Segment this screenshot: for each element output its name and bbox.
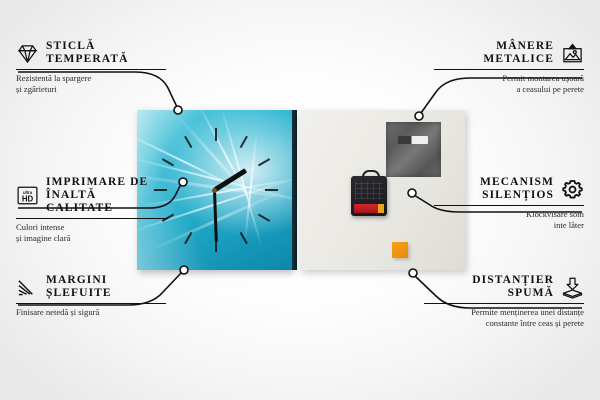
feature-subtitle: Permit montarea ușoară a ceasului pe per… (434, 73, 584, 95)
feature-title-line-2: ȘLEFUITE (46, 287, 112, 299)
feature-header: DISTANȚIER SPUMĂ (424, 274, 584, 300)
feature-subtitle-line-2: și imagine clară (16, 233, 70, 243)
feature-title-line-1: MECANISM (480, 176, 554, 188)
diagonal-stripes-icon (16, 276, 39, 299)
feature-header: MÂNERE METALICE (434, 40, 584, 66)
feature-header: MECANISM SILENȚIOS (434, 176, 584, 202)
feature-title-line-1: IMPRIMARE DE (46, 176, 148, 188)
metal-hanger-plate (386, 122, 441, 177)
feature-title-line-1: DISTANȚIER (472, 274, 554, 286)
clock-movement (351, 176, 387, 216)
feature-title-line-1: STICLĂ (46, 40, 95, 52)
feature-subtitle-line-1: Permite menținerea unei distanțe (471, 307, 584, 317)
feature-header: ultra HD IMPRIMARE DE ÎNALTĂ CALITATE (16, 176, 166, 215)
feature-subtitle-line-2: constante între ceas și perete (486, 318, 584, 328)
battery-cap (378, 204, 384, 213)
feature-title-line-2: SILENȚIOS (482, 189, 554, 201)
feature-subtitle-line-1: Klockvisare som (526, 209, 584, 219)
glass-edge (292, 110, 297, 270)
feature-rule (434, 69, 584, 70)
feature-title-line-2: SPUMĂ (508, 287, 554, 299)
feature-subtitle: Finisare netedă și sigură (16, 307, 166, 318)
feature-subtitle-line-1: Permit montarea ușoară (502, 73, 584, 83)
feature-subtitle-line-1: Rezistentă la spargere (16, 73, 91, 83)
movement-hanging-loop (362, 170, 380, 181)
hanger-slot (398, 136, 428, 144)
arrow-onto-pad-icon (561, 276, 584, 299)
feature-high-quality-print[interactable]: ultra HD IMPRIMARE DE ÎNALTĂ CALITATE Cu… (16, 176, 166, 244)
feature-header: STICLĂ TEMPERATĂ (16, 40, 166, 66)
feature-subtitle: Permite menținerea unei distanțe constan… (424, 307, 584, 329)
feature-rule (16, 303, 166, 304)
feature-rule (424, 303, 584, 304)
feature-title-line-2: METALICE (483, 53, 554, 65)
feature-rule (16, 69, 166, 70)
framed-picture-icon (561, 42, 584, 65)
feature-rule (16, 218, 168, 219)
feature-subtitle-line-2: și zgârieturi (16, 84, 57, 94)
feature-silent-mechanism[interactable]: MECANISM SILENȚIOS Klockvisare som inte … (434, 176, 584, 231)
feature-subtitle-line-1: Finisare netedă și sigură (16, 307, 99, 317)
clock-minute-hand (213, 190, 218, 242)
movement-texture (355, 181, 383, 199)
battery (354, 204, 384, 213)
feature-subtitle-line-2: a ceasului pe perete (516, 84, 584, 94)
feature-subtitle: Rezistentă la spargere și zgârieturi (16, 73, 166, 95)
ultra-hd-icon: ultra HD (16, 184, 39, 207)
feature-title-line-2: TEMPERATĂ (46, 53, 129, 65)
infographic-canvas: STICLĂ TEMPERATĂ Rezistentă la spargere … (0, 0, 600, 400)
diamond-icon (16, 42, 39, 65)
feature-subtitle: Culori intense și imagine clară (16, 222, 166, 244)
feature-title-line-1: MÂNERE (496, 40, 554, 52)
clock-center-cap (212, 188, 217, 193)
feature-subtitle-line-1: Culori intense (16, 222, 64, 232)
svg-text:HD: HD (22, 194, 34, 203)
feature-tempered-glass[interactable]: STICLĂ TEMPERATĂ Rezistentă la spargere … (16, 40, 166, 95)
feature-foam-spacer[interactable]: DISTANȚIER SPUMĂ Permite menținerea unei… (424, 274, 584, 329)
gear-icon (561, 178, 584, 201)
feature-title-line-1: MARGINI (46, 274, 107, 286)
feature-header: MARGINI ȘLEFUITE (16, 274, 166, 300)
feature-metal-handles[interactable]: MÂNERE METALICE Permit montarea ușoară a… (434, 40, 584, 95)
feature-polished-edges[interactable]: MARGINI ȘLEFUITE Finisare netedă și sigu… (16, 274, 166, 318)
feature-title-line-2: ÎNALTĂ CALITATE (46, 189, 113, 214)
feature-subtitle: Klockvisare som inte låter (434, 209, 584, 231)
feature-subtitle-line-2: inte låter (554, 220, 584, 230)
foam-spacer-pad (392, 242, 408, 258)
feature-rule (434, 205, 584, 206)
